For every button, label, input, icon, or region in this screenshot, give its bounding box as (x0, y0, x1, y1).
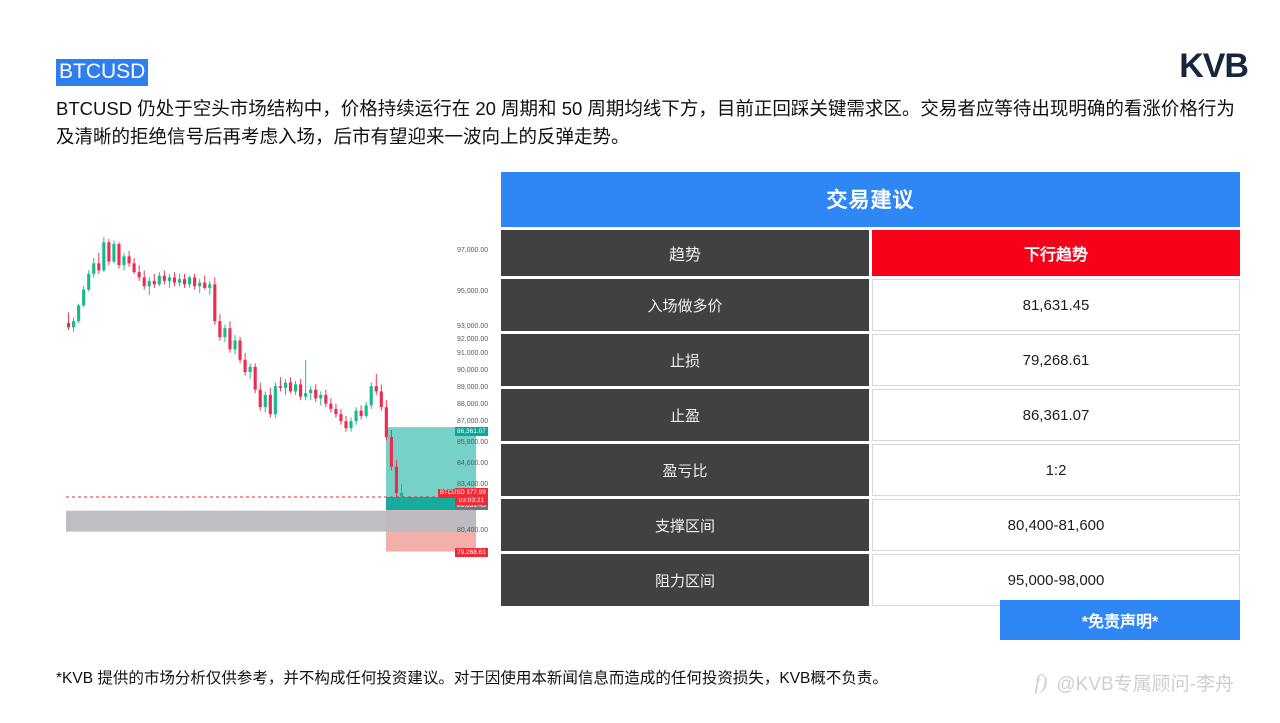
table-row: 止损 79,268.61 (501, 334, 1240, 386)
row-value-stoploss: 79,268.61 (872, 334, 1240, 386)
row-label-resistance: 阻力区间 (501, 554, 869, 606)
axis-tick-97000: 97,000.00 (457, 247, 488, 254)
row-value-riskreward: 1:2 (872, 444, 1240, 496)
axis-tick-90000: 90,000.00 (457, 367, 488, 374)
row-value-takeprofit: 86,361.07 (872, 389, 1240, 441)
watermark-text: @KVB专属顾问-李舟 (1056, 669, 1234, 696)
row-value-resistance: 95,000-98,000 (872, 554, 1240, 606)
axis-tick-87000: 87,000.00 (457, 418, 488, 425)
table-row: 盈亏比 1:2 (501, 444, 1240, 496)
take-profit-axis-badge: 86,361.07 (455, 427, 488, 436)
row-label-takeprofit: 止盈 (501, 389, 869, 441)
trade-recommendation-table: 交易建议 趋势 下行趋势 入场做多价 81,631.45 止损 79,268.6… (501, 172, 1240, 606)
table-row: 止盈 86,361.07 (501, 389, 1240, 441)
axis-tick-93000: 93,000.00 (457, 323, 488, 330)
row-value-entry: 81,631.45 (872, 279, 1240, 331)
trend-value: 下行趋势 (872, 230, 1240, 276)
axis-tick-92000: 92,000.00 (457, 336, 488, 343)
watermark-glyph-icon: f) (1035, 670, 1048, 695)
kvb-logo: KVB (1126, 46, 1248, 86)
symbol-highlight: BTCUSD (56, 59, 148, 86)
axis-tick-88000: 88,000.00 (457, 401, 488, 408)
watermark: f) @KVB专属顾问-李舟 (1035, 669, 1234, 696)
table-row: 入场做多价 81,631.45 (501, 279, 1240, 331)
row-label-support: 支撑区间 (501, 499, 869, 551)
row-label-stoploss: 止损 (501, 334, 869, 386)
row-label-riskreward: 盈亏比 (501, 444, 869, 496)
kvb-logo-text: KVB (1179, 49, 1248, 83)
axis-tick-84600: 84,600.00 (457, 460, 488, 467)
axis-tick-85800: 85,800.00 (457, 439, 488, 446)
price-axis: 97,000.00 95,000.00 93,000.00 92,000.00 … (455, 175, 507, 595)
candlestick-canvas (56, 175, 476, 595)
disclaimer-button[interactable]: *免责声明* (1000, 600, 1240, 640)
symbol-price-flag: BTCUSD (438, 489, 467, 498)
row-label-entry: 入场做多价 (501, 279, 869, 331)
row-value-support: 80,400-81,600 (872, 499, 1240, 551)
table-row: 支撑区间 80,400-81,600 (501, 499, 1240, 551)
table-title: 交易建议 (501, 172, 1240, 227)
axis-tick-80400: 80,400.00 (457, 527, 488, 534)
axis-tick-83400: 83,400.00 (457, 481, 488, 488)
trend-label: 趋势 (501, 230, 869, 276)
stop-loss-axis-badge: 79,268.61 (455, 548, 488, 557)
slide-canvas: KVB BTCUSD BTCUSD 仍处于空头市场结构中，价格持续运行在 20 … (0, 0, 1280, 723)
market-summary-text: BTCUSD 仍处于空头市场结构中，价格持续运行在 20 周期和 50 周期均线… (56, 95, 1241, 151)
table-row: 阻力区间 95,000-98,000 (501, 554, 1240, 606)
axis-tick-95000: 95,000.00 (457, 288, 488, 295)
table-row-trend: 趋势 下行趋势 (501, 230, 1240, 276)
axis-tick-89000: 89,000.00 (457, 384, 488, 391)
axis-tick-91000: 91,000.00 (457, 350, 488, 357)
legal-footnote: *KVB 提供的市场分析仅供参考，并不构成任何投资建议。对于因使用本新闻信息而造… (56, 666, 888, 688)
price-chart[interactable] (56, 175, 476, 595)
